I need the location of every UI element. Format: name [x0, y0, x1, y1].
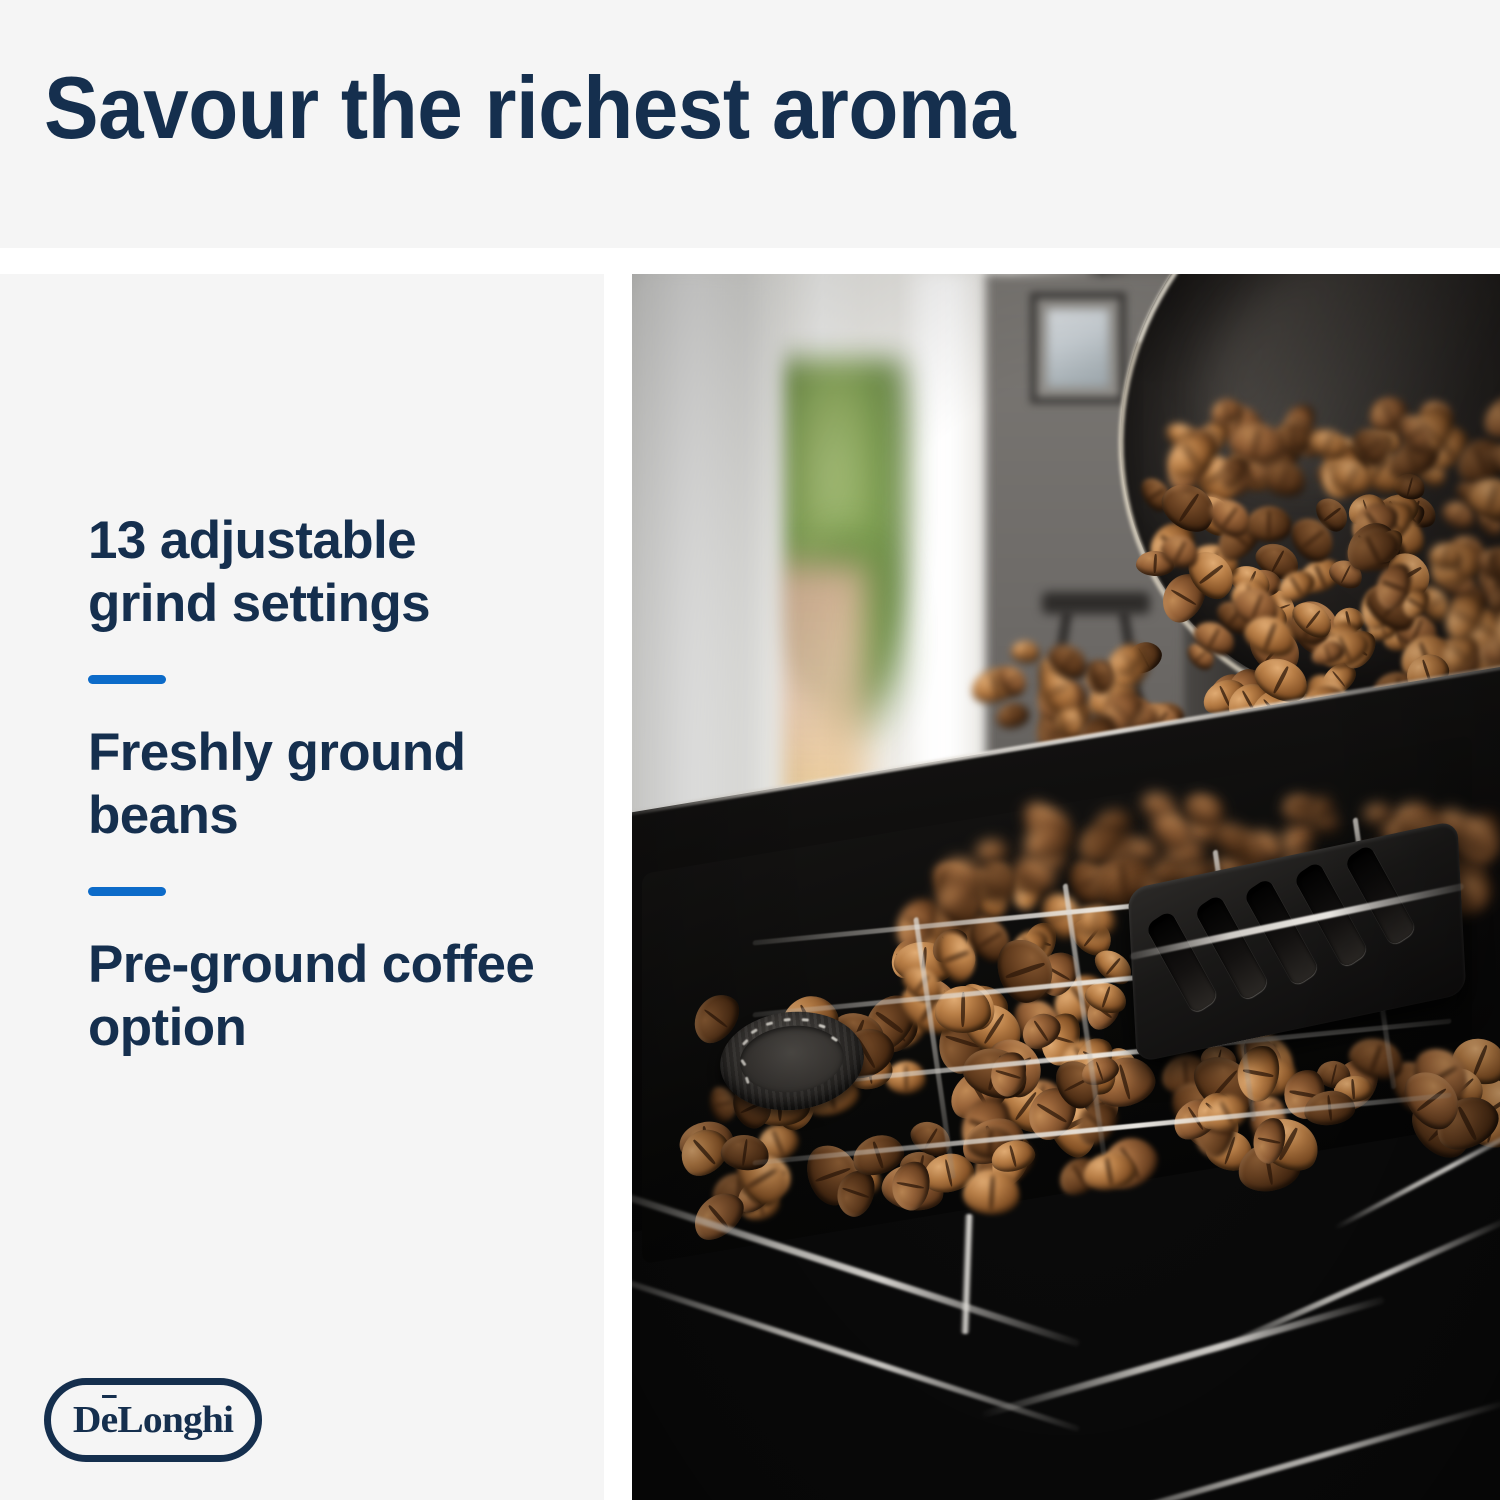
- machine-gloss-edge: [1060, 1401, 1500, 1500]
- feature-item-2: Freshly ground beans: [88, 722, 558, 847]
- photo-scene: [632, 274, 1500, 1500]
- logo-letter-d: D: [73, 1399, 101, 1441]
- logo-wordmark: DeLonghi: [73, 1398, 233, 1442]
- page-title: Savour the richest aroma: [44, 62, 1015, 154]
- machine-gloss-edge: [979, 1296, 1385, 1418]
- divider-1: [88, 675, 166, 684]
- left-content-panel: 13 adjustable grind settings Freshly gro…: [0, 274, 604, 1500]
- delonghi-logo: DeLonghi: [44, 1378, 262, 1462]
- product-photo: [632, 274, 1500, 1500]
- logo-letters-longhi: Longhi: [117, 1399, 233, 1441]
- logo-letter-e-macron: e: [101, 1398, 118, 1442]
- dial-tick: [802, 1018, 809, 1021]
- stool-seat: [1042, 592, 1150, 614]
- promo-page: Savour the richest aroma 13 adjustable g…: [0, 0, 1500, 1500]
- machine-gloss-edge: [1205, 1217, 1500, 1357]
- grate-bar: [913, 917, 956, 1180]
- header-band: Savour the richest aroma: [0, 0, 1500, 248]
- feature-item-1: 13 adjustable grind settings: [88, 510, 558, 635]
- feature-item-3: Pre-ground coffee option: [88, 934, 558, 1059]
- wall-picture-image: [1047, 309, 1109, 387]
- grate-bar: [1063, 883, 1107, 1156]
- divider-2: [88, 887, 166, 896]
- feature-list: 13 adjustable grind settings Freshly gro…: [88, 510, 558, 1059]
- wall-picture-frame: [1030, 292, 1126, 404]
- machine-gloss-edge: [960, 1214, 974, 1334]
